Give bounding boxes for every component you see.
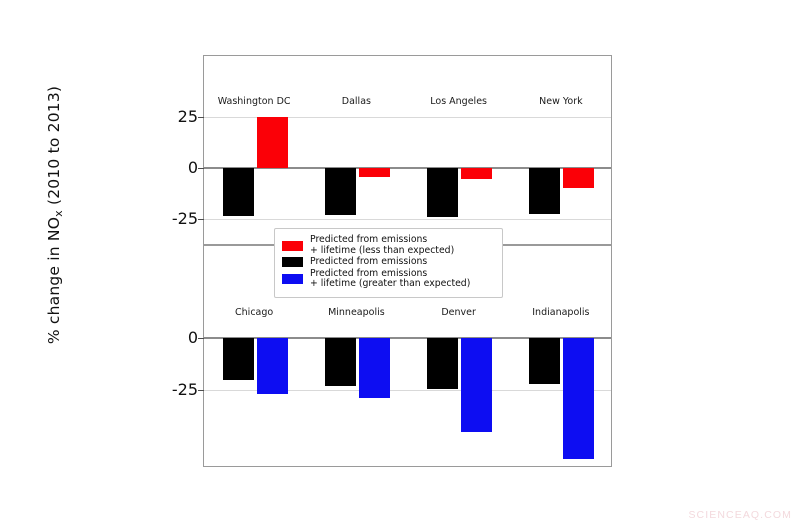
bar-denver-emissions — [427, 338, 458, 389]
legend-label-red: Predicted from emissions + lifetime (les… — [310, 235, 454, 256]
top-panel-axes — [203, 55, 612, 245]
y-tick-label: -25 — [138, 209, 198, 228]
group-label-new-york: New York — [539, 96, 583, 107]
bar-los-angeles-emissions — [427, 168, 458, 217]
y-tick-label: 0 — [138, 328, 198, 347]
group-label-los-angeles: Los Angeles — [430, 96, 487, 107]
y-axis-label-tail: (2010 to 2013) — [45, 86, 63, 210]
y-axis-label: % change in NOx (2010 to 2013) — [45, 50, 65, 380]
legend-item-black: Predicted from emissions — [282, 257, 495, 268]
legend-item-red: Predicted from emissions + lifetime (les… — [282, 235, 495, 256]
y-tick-label: 25 — [138, 107, 198, 126]
bar-washington-dc-emissions — [223, 168, 254, 216]
group-label-minneapolis: Minneapolis — [328, 307, 385, 318]
legend-swatch-black-icon — [282, 257, 303, 267]
group-label-indianapolis: Indianapolis — [532, 307, 589, 318]
legend-label-blue: Predicted from emissions + lifetime (gre… — [310, 269, 470, 290]
bar-dallas-emissions-lifetime — [359, 168, 390, 177]
group-label-denver: Denver — [441, 307, 476, 318]
y-axis-label-main: % change in NO — [45, 217, 63, 344]
watermark: SCIENCEAQ.COM — [688, 509, 792, 521]
figure-canvas: % change in NOx (2010 to 2013) Predicted… — [0, 0, 800, 530]
y-tick-mark — [198, 117, 204, 118]
bar-minneapolis-emissions-lifetime — [359, 338, 390, 398]
bar-indianapolis-emissions — [529, 338, 560, 384]
bar-los-angeles-emissions-lifetime — [461, 168, 492, 179]
y-tick-mark — [198, 168, 204, 169]
legend-swatch-red-icon — [282, 241, 303, 251]
chart-legend: Predicted from emissions + lifetime (les… — [274, 228, 503, 298]
bar-washington-dc-emissions-lifetime — [257, 117, 288, 168]
legend-label-black: Predicted from emissions — [310, 257, 427, 268]
group-label-chicago: Chicago — [235, 307, 273, 318]
bar-new-york-emissions — [529, 168, 560, 214]
group-label-washington-dc: Washington DC — [218, 96, 291, 107]
y-tick-mark — [198, 390, 204, 391]
bar-minneapolis-emissions — [325, 338, 356, 386]
y-tick-mark — [198, 338, 204, 339]
bar-denver-emissions-lifetime — [461, 338, 492, 432]
y-tick-mark — [198, 219, 204, 220]
bar-new-york-emissions-lifetime — [563, 168, 594, 188]
y-tick-label: -25 — [138, 380, 198, 399]
gridline — [204, 219, 611, 220]
y-tick-label: 0 — [138, 158, 198, 177]
bar-dallas-emissions — [325, 168, 356, 215]
y-axis-label-subscript: x — [52, 210, 65, 217]
bar-chicago-emissions — [223, 338, 254, 380]
group-label-dallas: Dallas — [342, 96, 371, 107]
bar-chicago-emissions-lifetime — [257, 338, 288, 394]
legend-item-blue: Predicted from emissions + lifetime (gre… — [282, 269, 495, 290]
bar-indianapolis-emissions-lifetime — [563, 338, 594, 459]
legend-swatch-blue-icon — [282, 274, 303, 284]
